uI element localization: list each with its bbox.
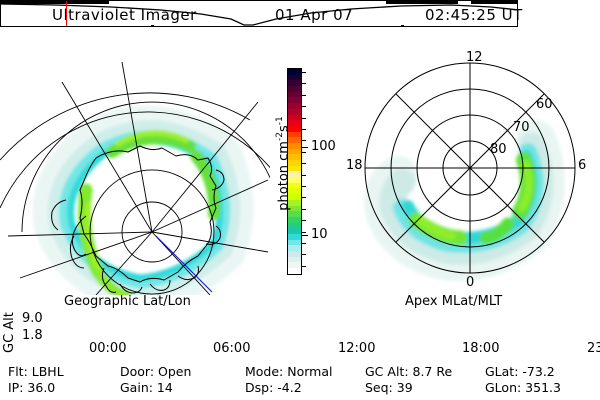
mlat-label-70: 70: [513, 120, 530, 135]
status-gain: Gain: 14: [120, 380, 173, 395]
strip-chart-ylabel: GC Alt: [2, 313, 16, 353]
right-plot-caption: Apex MLat/MLT: [405, 294, 502, 309]
strip-xtick-1200: 12:00: [338, 341, 375, 356]
status-dsp: Dsp: -4.2: [245, 380, 302, 395]
strip-ytick-high: 9.0: [22, 311, 43, 326]
strip-xtick-1800: 18:00: [462, 341, 499, 356]
mlt-label-0: 0: [466, 275, 474, 290]
colorbar-minor-tick: [302, 197, 306, 198]
colorbar-minor-tick: [302, 95, 306, 96]
strip-xtick-0000: 00:00: [89, 341, 126, 356]
colorbar-tick-label: 10: [311, 228, 328, 241]
colorbar-minor-tick: [302, 106, 306, 107]
colorbar-minor-tick: [302, 254, 306, 255]
colorbar-minor-tick: [302, 83, 306, 84]
colorbar-minor-tick: [302, 175, 306, 176]
status-door: Door: Open: [120, 364, 191, 379]
colorbar-tick: [302, 235, 308, 236]
colorbar-minor-tick: [302, 266, 306, 267]
mlat-label-60: 60: [536, 97, 553, 112]
strip-ytick-low: 1.8: [22, 328, 43, 343]
strip-xtick-2359: 23:59: [587, 341, 600, 356]
colorbar-tick-label: 100: [311, 140, 336, 153]
colorbar-minor-tick: [302, 72, 306, 73]
colorbar-minor-tick: [302, 209, 306, 210]
colorbar-minor-tick: [302, 232, 306, 233]
status-flight: Flt: LBHL: [8, 364, 64, 379]
status-glon: GLon: 351.3: [485, 380, 561, 395]
colorbar-minor-tick: [302, 186, 306, 187]
geographic-polar-plot[interactable]: [0, 40, 270, 295]
mlat-label-80: 80: [490, 142, 507, 157]
colorbar-band: [288, 268, 301, 274]
status-footer: Flt: LBHL IP: 36.0 Door: Open Gain: 14 M…: [0, 364, 600, 398]
mlt-label-18: 18: [346, 158, 363, 173]
aurora-emission: [46, 119, 241, 295]
status-glat: GLat: -73.2: [485, 364, 555, 379]
intensity-colorbar[interactable]: photon cm-2s-1: [287, 68, 302, 275]
colorbar-minor-tick: [302, 220, 306, 221]
status-seq: Seq: 39: [365, 380, 413, 395]
status-gc-alt: GC Alt: 8.7 Re: [365, 364, 452, 379]
strip-xtick-0600: 06:00: [213, 341, 250, 356]
mlat-mlt-grid: [365, 63, 575, 273]
time-cursor[interactable]: [66, 1, 67, 27]
colorbar-minor-tick: [302, 140, 306, 141]
colorbar-minor-tick: [302, 243, 306, 244]
altitude-trace: [1, 1, 518, 27]
aurora-emission-magnetic: [385, 140, 545, 261]
colorbar-axis-title: photon cm-2s-1: [275, 60, 291, 267]
orbit-altitude-strip-chart[interactable]: [0, 0, 518, 27]
magnetic-polar-plot[interactable]: [340, 48, 600, 296]
strip-chart-box: [0, 0, 518, 27]
colorbar-tick: [302, 147, 308, 148]
colorbar-minor-tick: [302, 129, 306, 130]
colorbar-minor-tick: [302, 163, 306, 164]
colorbar-minor-tick: [302, 152, 306, 153]
left-plot-caption: Geographic Lat/Lon: [64, 294, 191, 309]
mlt-label-6: 6: [578, 158, 586, 173]
mlt-label-12: 12: [466, 50, 483, 65]
status-mode: Mode: Normal: [245, 364, 332, 379]
status-ip: IP: 36.0: [8, 380, 55, 395]
colorbar-minor-tick: [302, 118, 306, 119]
